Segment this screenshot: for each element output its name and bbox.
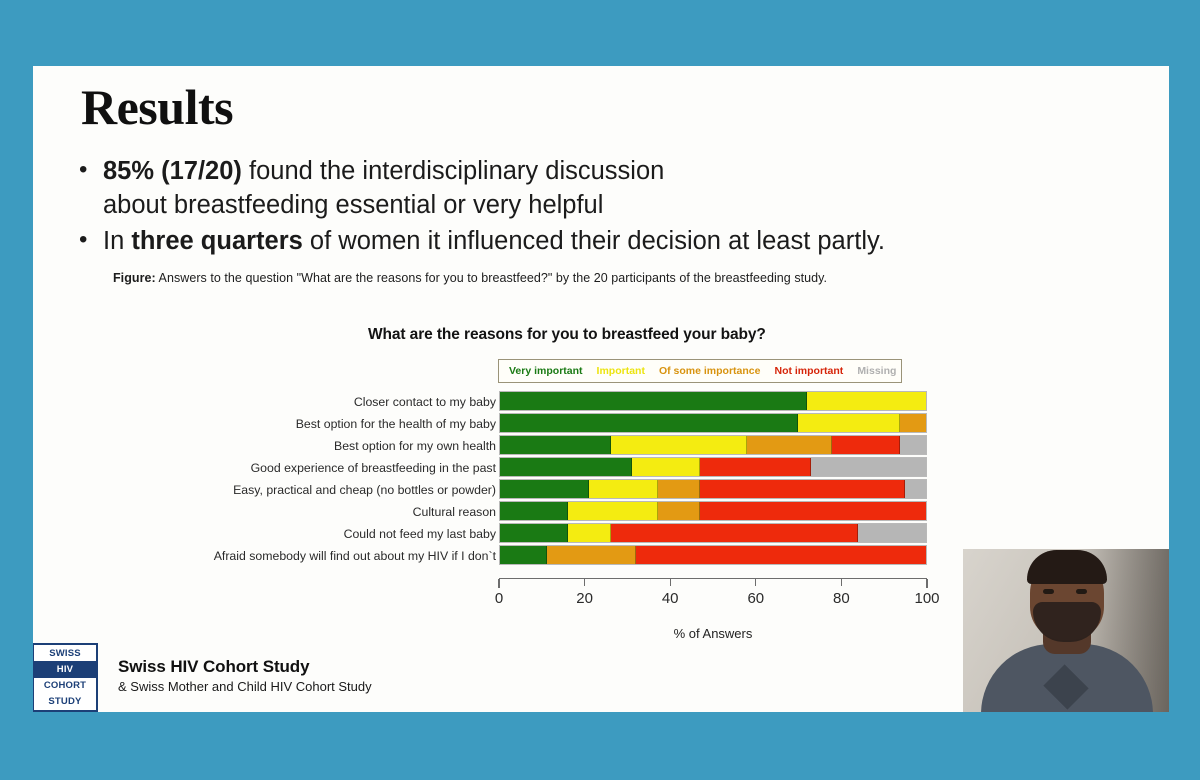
chart-bar-row	[499, 479, 927, 499]
chart-bar-segment	[807, 392, 926, 410]
presentation-viewport: Results • 85% (17/20) found the interdis…	[0, 0, 1200, 780]
axis-tick-label: 80	[833, 590, 850, 607]
chart-category-label: Could not feed my last baby	[128, 523, 496, 545]
logo-line: COHORT	[34, 678, 96, 694]
chart-category-labels: Closer contact to my babyBest option for…	[128, 391, 496, 567]
chart-bar-row	[499, 501, 927, 521]
chart-bar-segment	[900, 436, 926, 454]
figure-caption-label: Figure:	[113, 271, 156, 285]
chart-title: What are the reasons for you to breastfe…	[368, 326, 766, 344]
footer-text: Swiss HIV Cohort Study & Swiss Mother an…	[118, 657, 372, 694]
chart-bar-segment	[747, 436, 832, 454]
chart-bar-segment	[589, 480, 657, 498]
chart-bar-segment	[500, 436, 611, 454]
bullet-text: 85% (17/20) found the interdisciplinary …	[103, 154, 1109, 222]
chart-category-label: Best option for the health of my baby	[128, 413, 496, 435]
chart-bar-segment	[700, 458, 811, 476]
bullet-1-line2: about breastfeeding essential or very he…	[103, 191, 603, 219]
bullet-dot-icon: •	[79, 154, 103, 186]
bullet-text: In three quarters of women it influenced…	[103, 224, 1109, 258]
swiss-hiv-cohort-study-logo: SWISSHIVCOHORTSTUDY	[33, 643, 98, 712]
axis-tick	[841, 579, 842, 586]
footer-subtitle: & Swiss Mother and Child HIV Cohort Stud…	[118, 679, 372, 694]
bullet-list: • 85% (17/20) found the interdisciplinar…	[79, 154, 1109, 260]
chart-plot-area	[499, 391, 927, 576]
chart-bar-segment	[547, 546, 636, 564]
chart-x-tick-labels: 020406080100	[499, 590, 927, 612]
chart-category-label: Good experience of breastfeeding in the …	[128, 457, 496, 479]
chart-bar-segment	[500, 480, 589, 498]
chart-bar-segment	[832, 436, 900, 454]
chart-bar-row	[499, 435, 927, 455]
chart-category-label: Cultural reason	[128, 501, 496, 523]
chart-bar-segment	[500, 502, 568, 520]
chart-bar-row	[499, 523, 927, 543]
chart-bar-segment	[700, 502, 926, 520]
chart-bar-segment	[811, 458, 926, 476]
chart-bar-segment	[798, 414, 900, 432]
presenter-video-thumbnail[interactable]	[963, 549, 1169, 712]
list-item: • 85% (17/20) found the interdisciplinar…	[79, 154, 1109, 222]
bullet-2-pre: In	[103, 227, 131, 255]
axis-tick-label: 40	[662, 590, 679, 607]
chart-bar-segment	[900, 414, 926, 432]
chart-bar-segment	[658, 480, 701, 498]
chart-bar-segment	[500, 524, 568, 542]
chart-bar-segment	[611, 524, 858, 542]
chart-bar-segment	[905, 480, 926, 498]
bullet-dot-icon: •	[79, 224, 103, 256]
chart-bar-segment	[858, 524, 926, 542]
chart-bar-row	[499, 391, 927, 411]
axis-tick	[755, 579, 756, 586]
chart-bar-segment	[500, 414, 798, 432]
legend-item-not-important: Not important	[774, 365, 843, 377]
logo-line: SWISS	[34, 645, 96, 661]
bullet-2-lead: three quarters	[131, 227, 302, 255]
legend-item-missing: Missing	[857, 365, 896, 377]
figure-caption-text: Answers to the question "What are the re…	[156, 271, 827, 285]
footer-title: Swiss HIV Cohort Study	[118, 657, 372, 677]
chart-bar-segment	[632, 458, 700, 476]
chart-bar-segment	[500, 458, 632, 476]
chart-bar-segment	[658, 502, 701, 520]
legend-item-of-some-importance: Of some importance	[659, 365, 761, 377]
presenter-hair	[1027, 550, 1107, 584]
chart-bar-row	[499, 413, 927, 433]
chart-bar-segment	[568, 524, 611, 542]
chart-category-label: Easy, practical and cheap (no bottles or…	[128, 479, 496, 501]
chart-bar-segment	[568, 502, 657, 520]
axis-tick	[498, 579, 499, 588]
chart-bar-segment	[611, 436, 747, 454]
chart-category-label: Best option for my own health	[128, 435, 496, 457]
axis-tick	[584, 579, 585, 586]
chart-bar-segment	[500, 546, 547, 564]
chart-bar-row	[499, 457, 927, 477]
chart-bar-segment	[700, 480, 904, 498]
bullet-1-rest: found the interdisciplinary discussion	[242, 157, 664, 185]
axis-tick-label: 0	[495, 590, 503, 607]
chart-bar-row	[499, 545, 927, 565]
chart-category-label: Closer contact to my baby	[128, 391, 496, 413]
chart: What are the reasons for you to breastfe…	[93, 306, 1093, 686]
presenter-eye-right	[1076, 589, 1087, 594]
figure-caption: Figure: Answers to the question "What ar…	[113, 271, 827, 285]
bullet-2-rest: of women it influenced their decision at…	[303, 227, 885, 255]
logo-line: STUDY	[34, 694, 96, 710]
chart-bar-segment	[636, 546, 926, 564]
axis-tick	[926, 579, 927, 588]
chart-x-axis	[499, 578, 927, 588]
axis-tick	[670, 579, 671, 586]
page-title: Results	[81, 78, 233, 136]
chart-bar-segment	[500, 392, 807, 410]
chart-legend: Very importantImportantOf some importanc…	[498, 359, 902, 383]
legend-item-important: Important	[597, 365, 645, 377]
axis-tick-label: 100	[914, 590, 939, 607]
logo-line: HIV	[34, 661, 96, 677]
axis-tick-label: 20	[576, 590, 593, 607]
bullet-1-lead: 85% (17/20)	[103, 157, 242, 185]
chart-category-label: Afraid somebody will find out about my H…	[128, 545, 496, 567]
axis-tick-label: 60	[747, 590, 764, 607]
presenter-eye-left	[1043, 589, 1054, 594]
list-item: • In three quarters of women it influenc…	[79, 224, 1109, 258]
legend-item-very-important: Very important	[509, 365, 583, 377]
